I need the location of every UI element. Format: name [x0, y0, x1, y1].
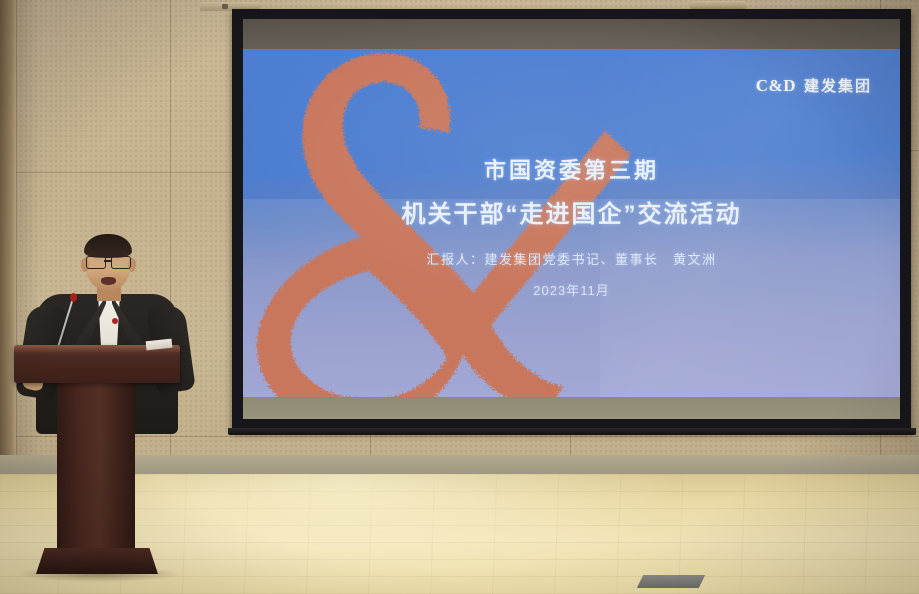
presenter-hair	[84, 234, 132, 258]
logo-company-name: 建发集团	[804, 75, 872, 96]
floor-vent-plate	[637, 575, 705, 588]
wall-panel-seam	[0, 172, 232, 173]
wall-panel-seam	[16, 0, 17, 470]
slide-date-line: 2023年11月	[243, 280, 900, 299]
wall-left-column	[0, 0, 16, 470]
slide-presenter-line: 汇报人：建发集团党委书记、董事长 黄文洲	[243, 249, 900, 268]
projection-screen-surface: C&D 建发集团 市国资委第三期 机关干部“走进国企”交流活动 汇报人：建发集团…	[243, 19, 900, 419]
letterbox-band-bottom	[243, 397, 900, 419]
conference-hall-photo: C&D 建发集团 市国资委第三期 机关干部“走进国企”交流活动 汇报人：建发集团…	[0, 0, 919, 594]
cd-group-logo: C&D 建发集团	[756, 75, 872, 96]
wall-panel-seam	[0, 436, 919, 437]
presentation-slide: C&D 建发集团 市国资委第三期 机关干部“走进国企”交流活动 汇报人：建发集团…	[243, 49, 900, 397]
presenter-mouth	[101, 277, 116, 285]
podium-base	[36, 548, 158, 574]
logo-mark-text: C&D	[756, 76, 796, 96]
letterbox-band-top	[243, 19, 900, 49]
screen-mount-bracket-right	[690, 1, 746, 9]
presenter-glasses	[85, 256, 131, 268]
glasses-lens-right	[111, 256, 131, 269]
glasses-lens-left	[86, 256, 106, 269]
floor-light-reflection	[120, 474, 680, 594]
podium-column	[57, 383, 135, 555]
lapel-pin	[112, 318, 118, 324]
screen-bottom-bar	[228, 428, 916, 435]
microphone-head-icon	[70, 293, 77, 302]
slide-title-line-1: 市国资委第三期	[243, 153, 900, 185]
slide-title-line-2: 机关干部“走进国企”交流活动	[243, 194, 900, 229]
projection-screen-frame: C&D 建发集团 市国资委第三期 机关干部“走进国企”交流活动 汇报人：建发集团…	[232, 9, 911, 431]
